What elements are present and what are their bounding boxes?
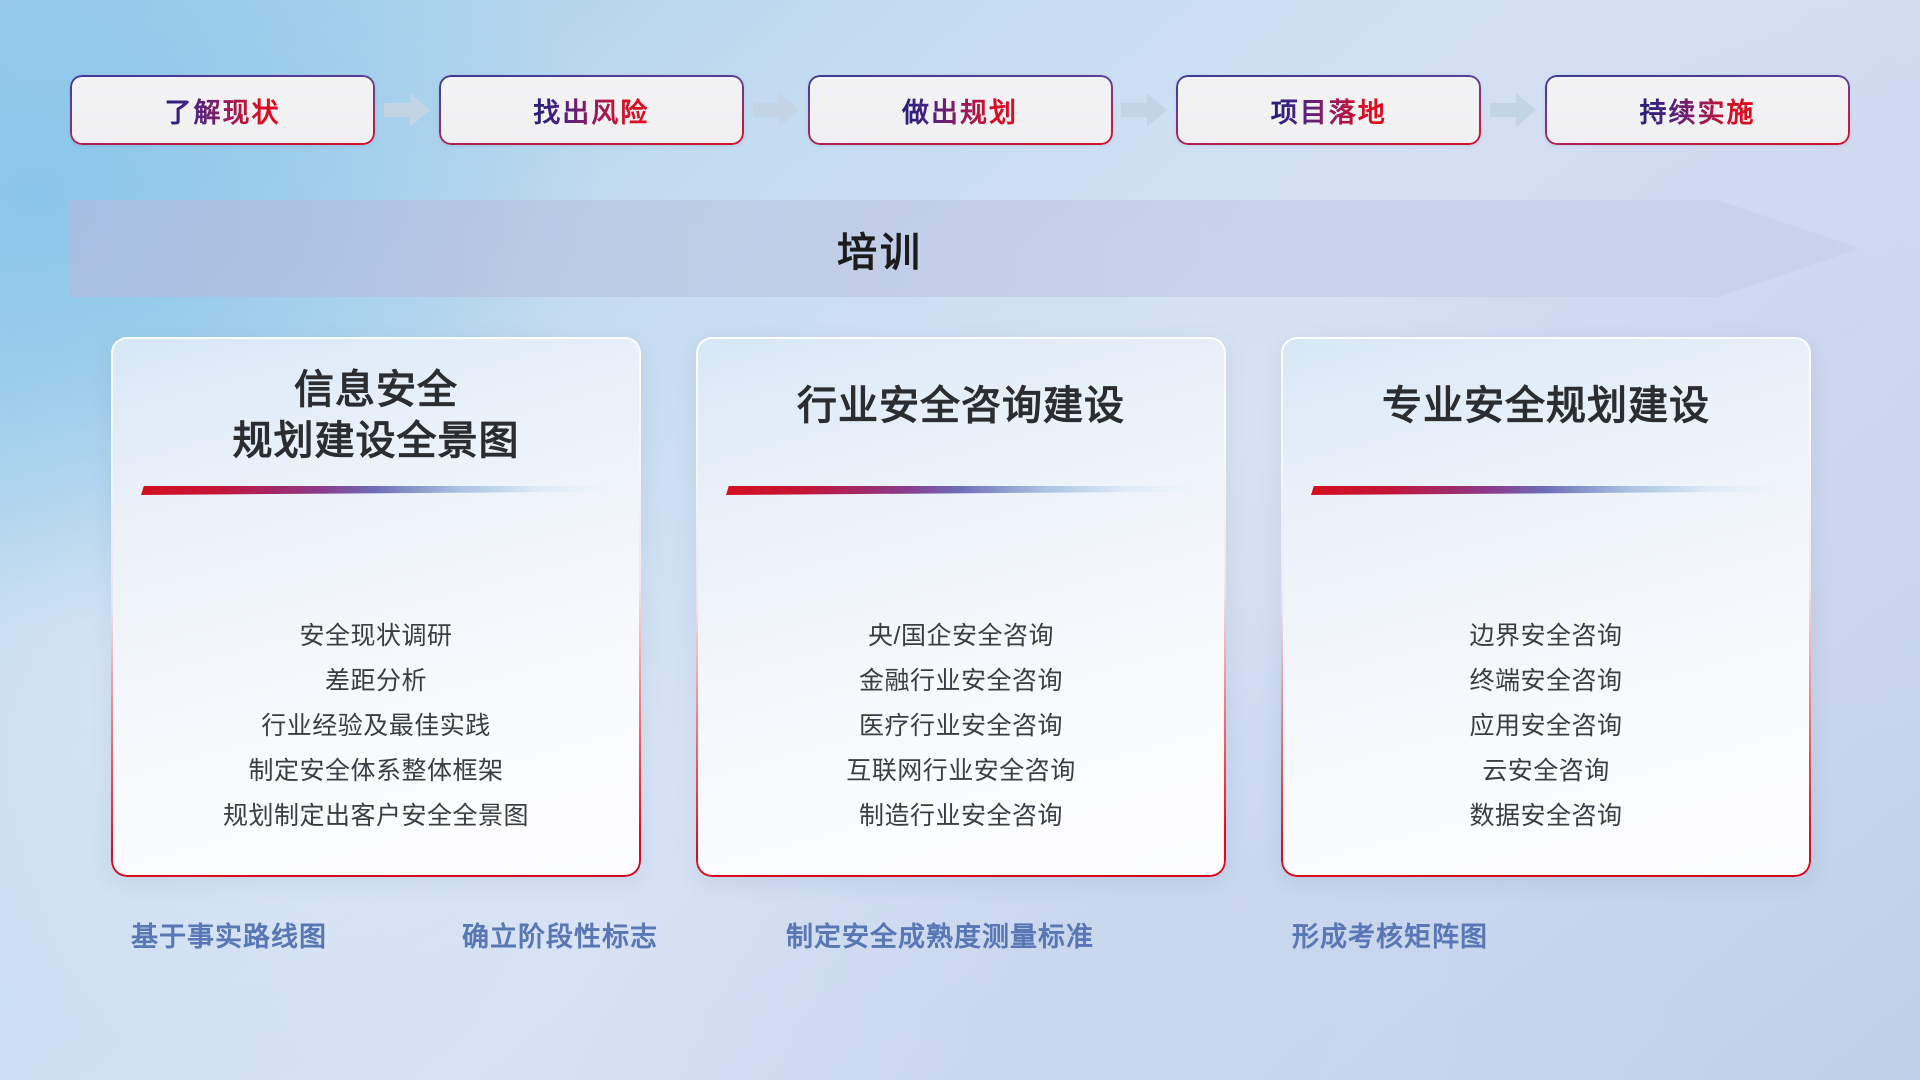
arrow-right-icon <box>375 93 439 127</box>
process-flow-row: 了解现状 找出风险 做出规划 项目落地 <box>70 75 1850 145</box>
process-step-3[interactable]: 做出规划 <box>808 75 1113 145</box>
caption-1: 基于事实路线图 <box>131 915 327 954</box>
card-title: 专业安全规划建设 <box>1364 381 1728 432</box>
list-item: 应用安全咨询 <box>1469 704 1622 749</box>
card-item-list: 央/国企安全咨询 金融行业安全咨询 医疗行业安全咨询 互联网行业安全咨询 制造行… <box>696 614 1226 839</box>
list-item: 边界安全咨询 <box>1469 614 1622 659</box>
card-item-list: 安全现状调研 差距分析 行业经验及最佳实践 制定安全体系整体框架 规划制定出客户… <box>111 614 641 839</box>
process-step-label: 项目落地 <box>1271 91 1387 130</box>
list-item: 金融行业安全咨询 <box>859 659 1063 704</box>
list-item: 医疗行业安全咨询 <box>859 704 1063 749</box>
card-title: 信息安全 规划建设全景图 <box>215 365 538 467</box>
process-step-5[interactable]: 持续实施 <box>1545 75 1850 145</box>
cards-row: 信息安全 规划建设全景图 安全现状调研 差距分析 行业经验及最佳实践 制定安全体… <box>111 337 1811 877</box>
card-industry-security-consulting[interactable]: 行业安全咨询建设 央/国企安全咨询 金融行业安全咨询 医疗行业安全咨询 互联网行… <box>696 337 1226 877</box>
arrow-right-icon <box>744 93 808 127</box>
process-step-1[interactable]: 了解现状 <box>70 75 375 145</box>
card-title-line: 行业安全咨询建设 <box>797 381 1125 432</box>
list-item: 制造行业安全咨询 <box>859 794 1063 839</box>
arrow-right-icon <box>1481 93 1545 127</box>
caption-3: 制定安全成熟度测量标准 <box>786 915 1094 954</box>
process-step-4[interactable]: 项目落地 <box>1176 75 1481 145</box>
list-item: 制定安全体系整体框架 <box>248 749 503 794</box>
banner-label: 培训 <box>70 200 1690 297</box>
captions-row: 基于事实路线图 确立阶段性标志 制定安全成熟度测量标准 形成考核矩阵图 <box>0 915 1920 959</box>
card-divider <box>726 486 1196 495</box>
arrow-right-icon <box>1113 93 1177 127</box>
process-step-label: 做出规划 <box>902 91 1018 130</box>
list-item: 数据安全咨询 <box>1469 794 1622 839</box>
card-title-line: 专业安全规划建设 <box>1382 381 1710 432</box>
list-item: 安全现状调研 <box>299 614 452 659</box>
card-title-line: 规划建设全景图 <box>233 416 520 467</box>
caption-4: 形成考核矩阵图 <box>1292 915 1488 954</box>
training-banner: 培训 <box>70 200 1860 297</box>
slide-canvas: 了解现状 找出风险 做出规划 项目落地 <box>0 0 1920 1080</box>
card-title: 行业安全咨询建设 <box>779 381 1143 432</box>
card-title-line: 信息安全 <box>233 365 520 416</box>
process-step-2[interactable]: 找出风险 <box>439 75 744 145</box>
card-item-list: 边界安全咨询 终端安全咨询 应用安全咨询 云安全咨询 数据安全咨询 <box>1281 614 1811 839</box>
card-professional-security-planning[interactable]: 专业安全规划建设 边界安全咨询 终端安全咨询 应用安全咨询 云安全咨询 数据安全… <box>1281 337 1811 877</box>
list-item: 行业经验及最佳实践 <box>261 704 491 749</box>
list-item: 互联网行业安全咨询 <box>846 749 1076 794</box>
caption-2: 确立阶段性标志 <box>462 915 658 954</box>
list-item: 云安全咨询 <box>1482 749 1610 794</box>
process-step-label: 持续实施 <box>1640 91 1756 130</box>
list-item: 差距分析 <box>325 659 427 704</box>
process-step-label: 了解现状 <box>165 91 281 130</box>
card-divider <box>1311 486 1781 495</box>
card-information-security-blueprint[interactable]: 信息安全 规划建设全景图 安全现状调研 差距分析 行业经验及最佳实践 制定安全体… <box>111 337 641 877</box>
list-item: 规划制定出客户安全全景图 <box>223 794 529 839</box>
list-item: 终端安全咨询 <box>1469 659 1622 704</box>
card-divider <box>141 486 611 495</box>
process-step-label: 找出风险 <box>533 91 649 130</box>
list-item: 央/国企安全咨询 <box>868 614 1054 659</box>
